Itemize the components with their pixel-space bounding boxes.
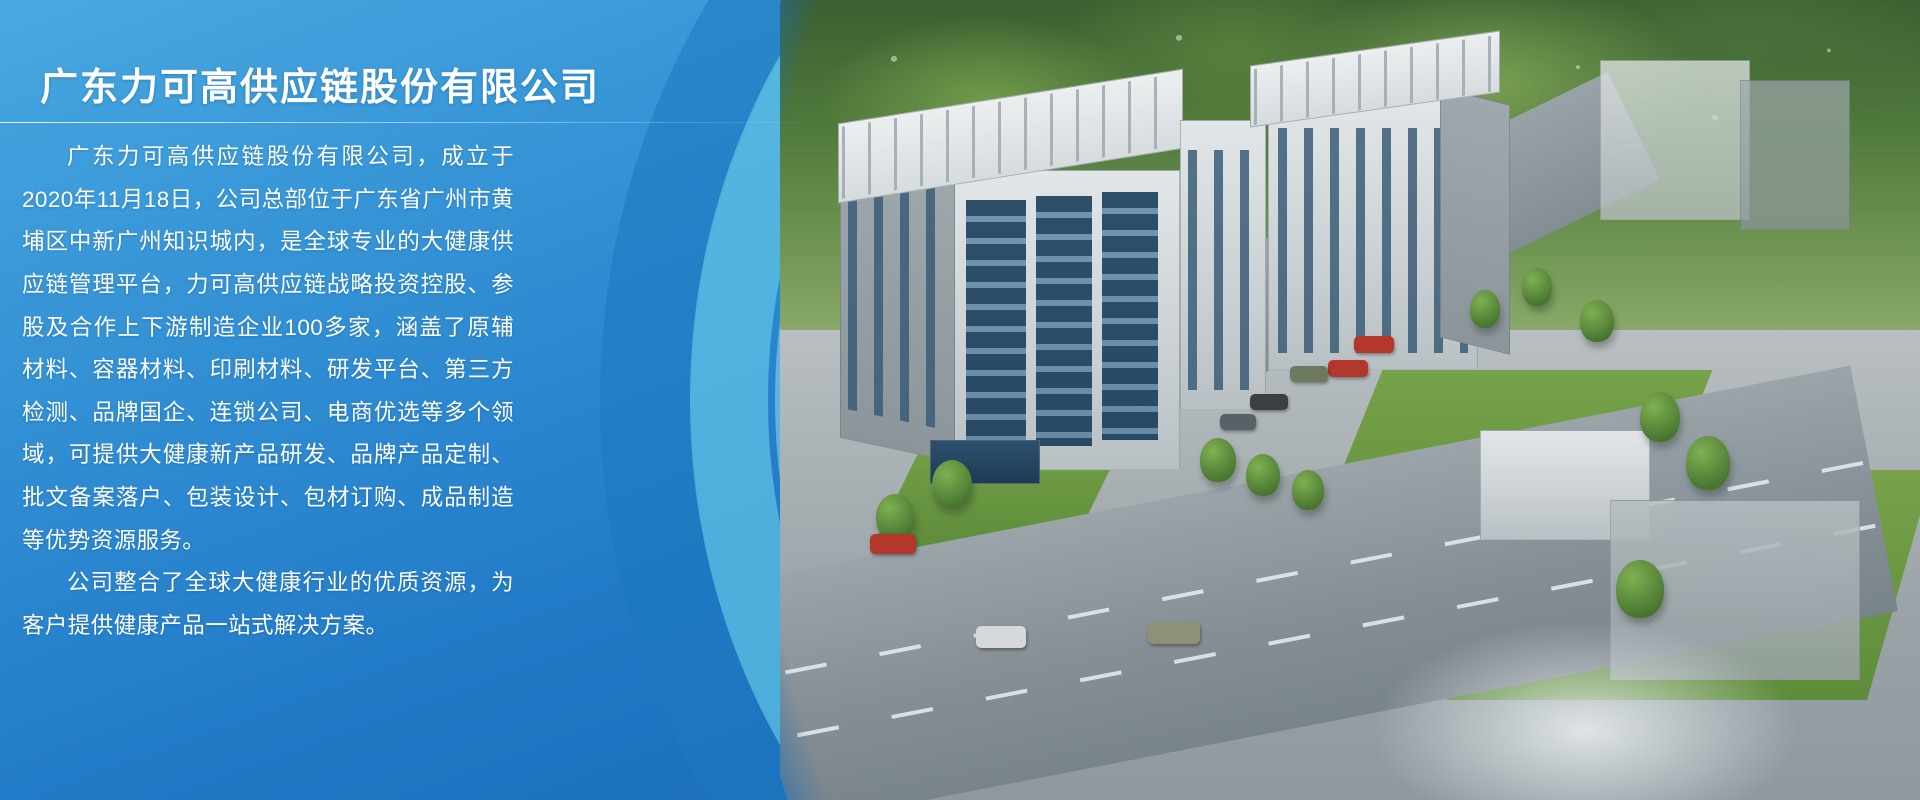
atmospheric-haze <box>1370 620 1800 800</box>
intro-body: 广东力可高供应链股份有限公司，成立于2020年11月18日，公司总部位于广东省广… <box>22 136 514 648</box>
tree <box>1640 392 1680 442</box>
car-white <box>976 626 1026 648</box>
car-red <box>1354 336 1394 353</box>
building-glass-curtain <box>966 200 1026 450</box>
company-intro-banner: 广东力可高供应链股份有限公司 广东力可高供应链股份有限公司，成立于2020年11… <box>0 0 1920 800</box>
building-distant <box>1740 80 1850 230</box>
building-glass-curtain <box>1102 192 1158 440</box>
tree <box>1686 436 1730 490</box>
title-divider <box>0 122 800 123</box>
building-window-grid <box>848 159 948 430</box>
tree <box>1292 470 1324 510</box>
car-dark <box>1250 394 1288 410</box>
tree <box>1522 268 1552 306</box>
car-grey <box>1220 414 1256 430</box>
page-title: 广东力可高供应链股份有限公司 <box>40 56 600 111</box>
campus-photo <box>780 0 1920 800</box>
tree <box>1246 454 1280 496</box>
tree <box>1200 438 1236 482</box>
building-window-grid <box>1188 150 1260 390</box>
building-glass-curtain <box>1036 196 1092 446</box>
tree <box>1616 560 1664 618</box>
intro-text-column: 广东力可高供应链股份有限公司 广东力可高供应链股份有限公司，成立于2020年11… <box>0 0 600 800</box>
tree <box>932 460 972 508</box>
building-distant <box>1600 60 1750 220</box>
car-olive <box>1148 622 1200 644</box>
intro-paragraph-2: 公司整合了全球大健康行业的优质资源，为客户提供健康产品一站式解决方案。 <box>22 562 514 647</box>
car-red <box>1328 360 1368 377</box>
tree <box>1470 290 1500 328</box>
campus-photo-inner <box>780 0 1920 800</box>
intro-paragraph-1: 广东力可高供应链股份有限公司，成立于2020年11月18日，公司总部位于广东省广… <box>22 136 514 562</box>
tree <box>1580 300 1614 342</box>
car-red <box>870 534 916 554</box>
car-green <box>1290 366 1328 382</box>
